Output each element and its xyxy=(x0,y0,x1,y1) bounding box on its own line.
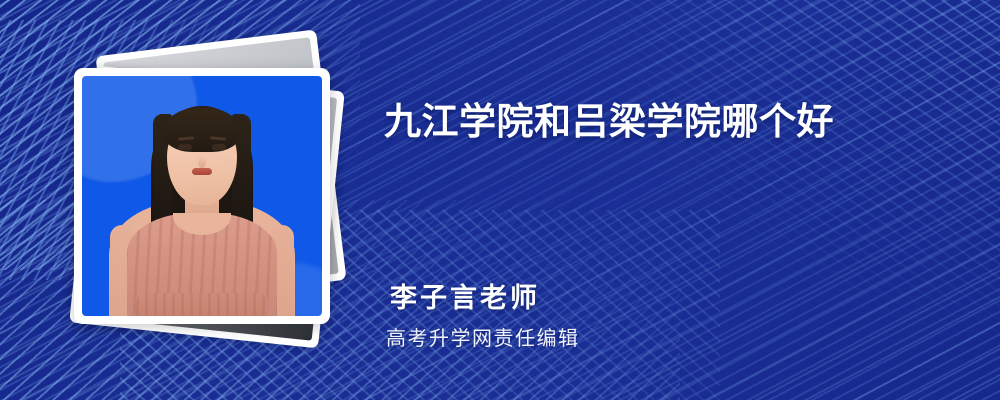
portrait-figure xyxy=(82,76,322,316)
portrait-dress-collar xyxy=(173,213,231,235)
portrait-photo xyxy=(82,76,322,316)
article-header-banner: 九江学院和吕梁学院哪个好 李子言老师 高考升学网责任编辑 xyxy=(0,0,1000,400)
portrait-dress-waist xyxy=(136,293,268,316)
photo-frame-main xyxy=(74,68,330,324)
author-role: 高考升学网责任编辑 xyxy=(386,322,580,351)
portrait-dress xyxy=(127,213,277,316)
portrait-nose xyxy=(199,156,206,168)
portrait-eye-left xyxy=(178,144,192,150)
photo-frame-stack xyxy=(60,42,350,342)
portrait-mouth xyxy=(192,168,212,175)
portrait-hair-front xyxy=(163,108,241,152)
portrait-eye-right xyxy=(212,144,226,150)
page-title: 九江学院和吕梁学院哪个好 xyxy=(384,101,834,142)
banner-text-column: 九江学院和吕梁学院哪个好 李子言老师 高考升学网责任编辑 xyxy=(384,0,960,400)
author-name: 李子言老师 xyxy=(390,276,540,315)
